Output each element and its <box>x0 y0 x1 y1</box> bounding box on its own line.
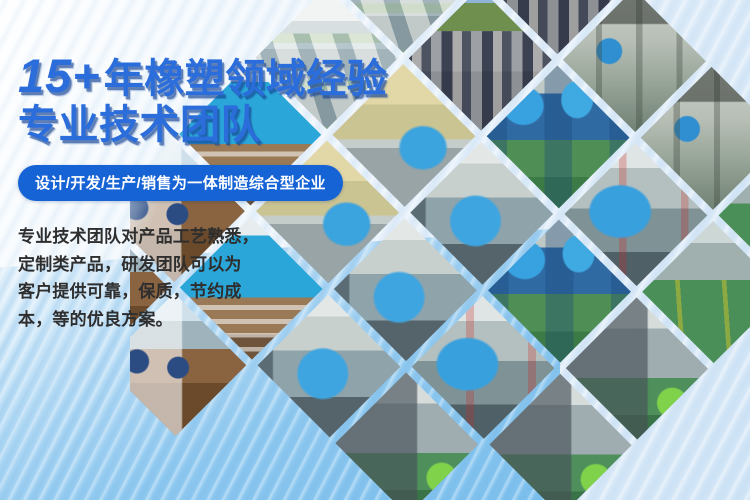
years-number: 15+ <box>18 49 101 102</box>
headline-line-1-text: 年橡塑领域经验 <box>104 57 388 101</box>
body-copy-line: 定制类产品，研发团队可以为 <box>18 251 286 279</box>
headline: 15+年橡塑领域经验 专业技术团队 <box>18 52 420 145</box>
headline-line-2: 专业技术团队 <box>18 105 420 145</box>
body-copy: 专业技术团队对产品工艺熟悉， 定制类产品，研发团队可以为 客户提供可靠，保质，节… <box>18 223 286 333</box>
body-copy-line: 客户提供可靠，保质，节约成 <box>18 278 286 306</box>
capability-badge: 设计/开发/生产/销售为一体制造综合型企业 <box>18 165 343 201</box>
headline-line-1: 15+年橡塑领域经验 <box>18 52 420 99</box>
company-promo-banner: 15+年橡塑领域经验 专业技术团队 设计/开发/生产/销售为一体制造综合型企业 … <box>0 0 750 500</box>
body-copy-line: 本，等的优良方案。 <box>18 306 286 334</box>
promo-text-panel: 15+年橡塑领域经验 专业技术团队 设计/开发/生产/销售为一体制造综合型企业 … <box>0 0 420 500</box>
body-copy-line: 专业技术团队对产品工艺熟悉， <box>18 223 286 251</box>
